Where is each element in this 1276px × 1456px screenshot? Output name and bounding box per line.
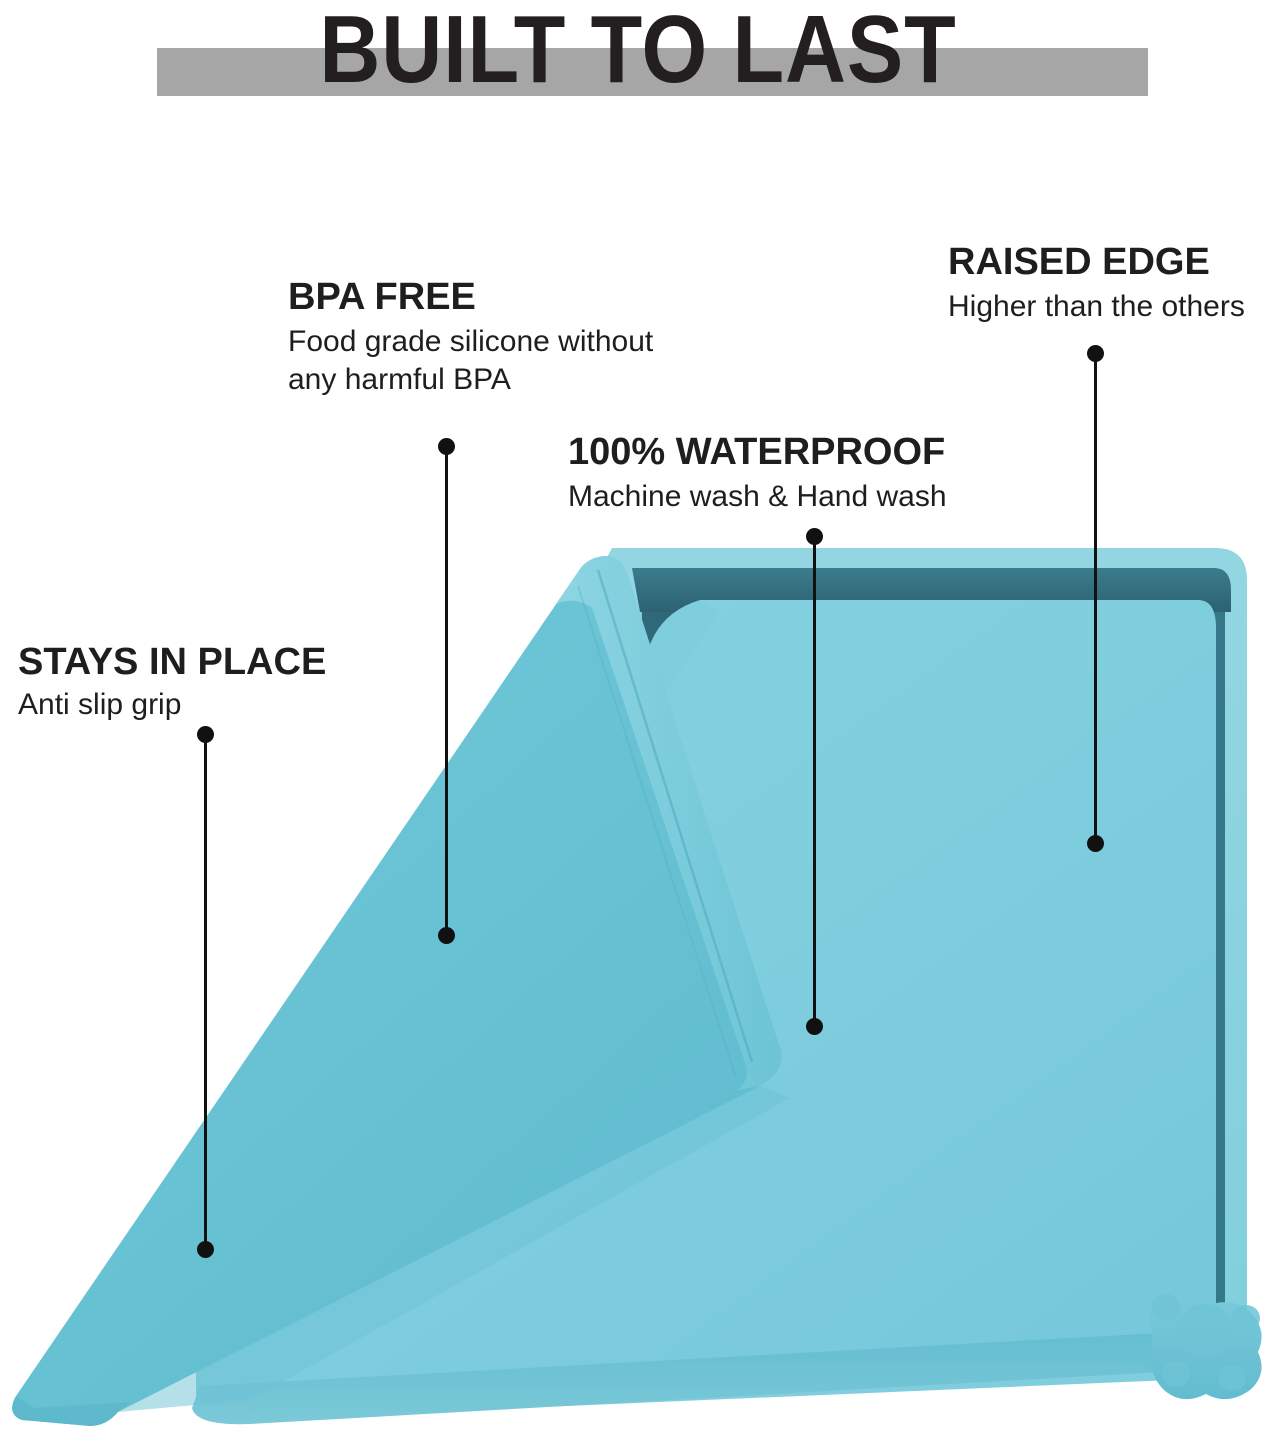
callout-subtitle: Machine wash & Hand wash	[568, 478, 947, 516]
callout-title: 100% WATERPROOF	[568, 430, 947, 474]
leader-dot-waterproof-bottom	[806, 1018, 823, 1035]
callout-subtitle-line: any harmful BPA	[288, 361, 653, 399]
leader-dot-bpa-bottom	[438, 927, 455, 944]
callout-waterproof: 100% WATERPROOF Machine wash & Hand wash	[568, 430, 947, 516]
callout-title: BPA FREE	[288, 275, 653, 319]
paw-print-tab	[1150, 1294, 1262, 1399]
page-title: BUILT TO LAST	[77, 0, 1200, 100]
infographic-page: BUILT TO LAST	[0, 0, 1276, 1456]
callout-subtitle-line: Food grade silicone without	[288, 323, 653, 361]
callout-subtitle: Anti slip grip	[18, 686, 326, 724]
leader-line-stays	[204, 734, 207, 1249]
callout-bpa-free: BPA FREE Food grade silicone without any…	[288, 275, 653, 399]
callout-subtitle-line: Machine wash & Hand wash	[568, 478, 947, 516]
callout-subtitle-line: Higher than the others	[948, 288, 1245, 326]
leader-dot-stays-bottom	[197, 1241, 214, 1258]
leader-line-raised	[1094, 353, 1097, 843]
leader-line-waterproof	[813, 536, 816, 1026]
product-illustration	[0, 0, 1276, 1456]
callout-stays-in-place: STAYS IN PLACE Anti slip grip	[18, 640, 326, 724]
callout-title: RAISED EDGE	[948, 240, 1245, 284]
callout-subtitle-line: Anti slip grip	[18, 686, 326, 724]
callout-subtitle: Higher than the others	[948, 288, 1245, 326]
callout-title: STAYS IN PLACE	[18, 640, 326, 684]
leader-dot-raised-bottom	[1087, 835, 1104, 852]
callout-raised-edge: RAISED EDGE Higher than the others	[948, 240, 1245, 326]
callout-subtitle: Food grade silicone without any harmful …	[288, 323, 653, 399]
leader-line-bpa	[445, 446, 448, 935]
